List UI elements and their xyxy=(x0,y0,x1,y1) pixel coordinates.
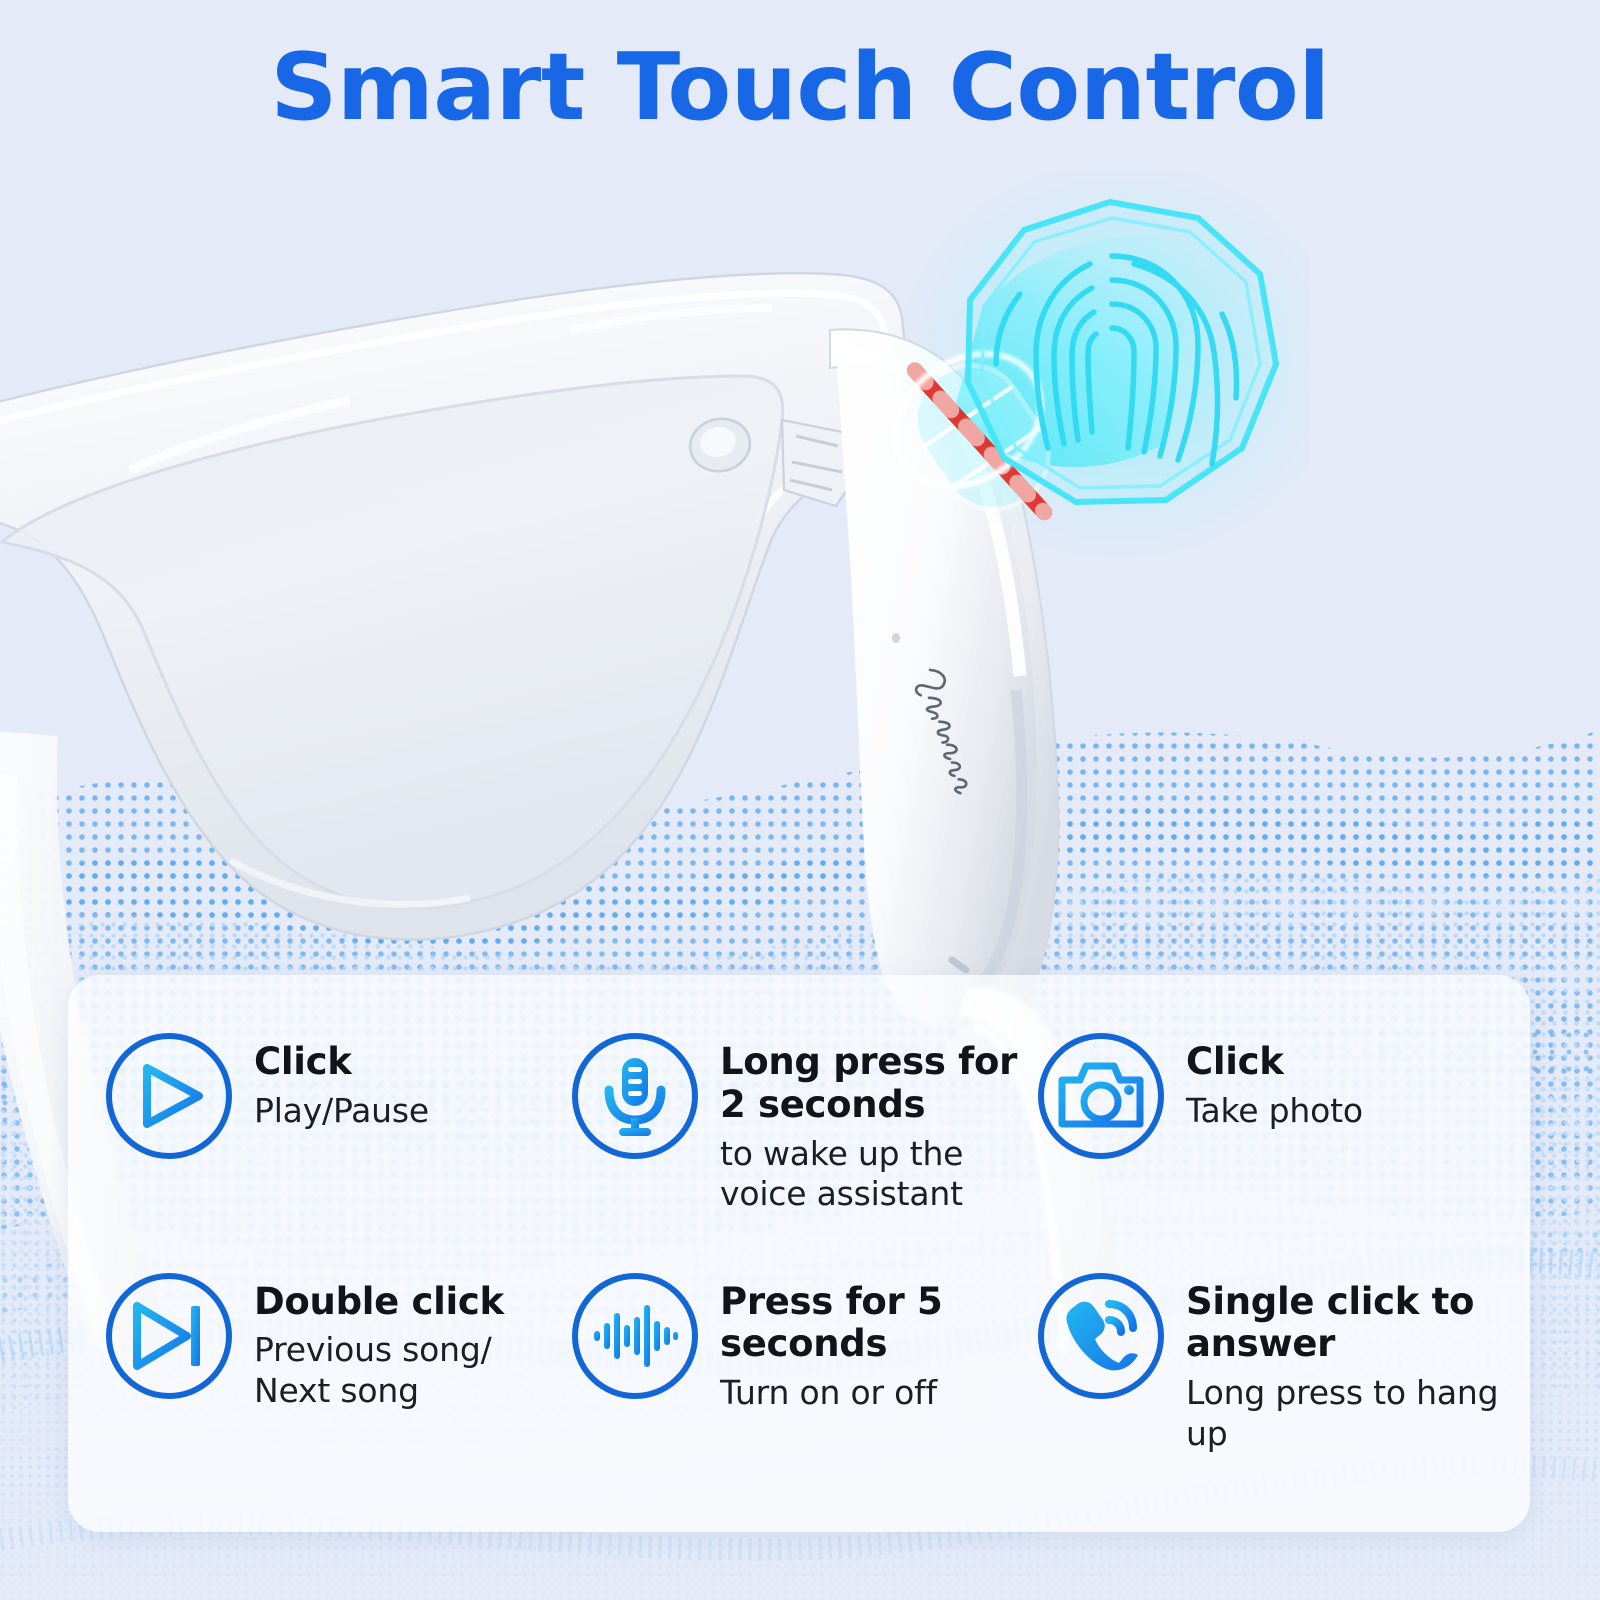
feature-title: Click xyxy=(1186,1041,1363,1084)
feature-subtitle: Long press to hang up xyxy=(1186,1373,1504,1454)
feature-item-power-toggle[interactable]: Press for 5 seconds Turn on or off xyxy=(572,1257,1038,1503)
feature-item-call-answer[interactable]: Single click to answer Long press to han… xyxy=(1038,1257,1504,1503)
feature-text: Press for 5 seconds Turn on or off xyxy=(720,1273,1038,1414)
next-track-icon xyxy=(106,1273,232,1399)
sound-wave-icon xyxy=(572,1273,698,1399)
feature-text: Single click to answer Long press to han… xyxy=(1186,1273,1504,1454)
feature-title: Single click to answer xyxy=(1186,1281,1504,1367)
eyeglass-frame xyxy=(0,273,912,939)
feature-text: Long press for 2 seconds to wake up the … xyxy=(720,1033,1038,1214)
feature-text: Click Take photo xyxy=(1186,1033,1363,1131)
feature-text: Double click Previous song/ Next song xyxy=(254,1273,572,1411)
phone-call-icon xyxy=(1038,1273,1164,1399)
feature-subtitle: to wake up the voice assistant xyxy=(720,1134,1038,1215)
camera-icon xyxy=(1038,1033,1164,1159)
touch-controls-panel: Click Play/Pause xyxy=(68,975,1530,1532)
page-title: Smart Touch Control xyxy=(0,34,1600,141)
infographic-page: Smart Touch Control xyxy=(0,0,1600,1600)
feature-subtitle: Take photo xyxy=(1186,1091,1363,1131)
feature-title: Press for 5 seconds xyxy=(720,1281,1038,1367)
feature-title: Long press for 2 seconds xyxy=(720,1041,1038,1127)
feature-grid: Click Play/Pause xyxy=(68,975,1530,1532)
play-icon xyxy=(106,1033,232,1159)
feature-title: Double click xyxy=(254,1281,572,1324)
feature-item-take-photo[interactable]: Click Take photo xyxy=(1038,1011,1504,1257)
feature-item-play[interactable]: Click Play/Pause xyxy=(106,1011,572,1257)
feature-subtitle: Turn on or off xyxy=(720,1373,1038,1413)
feature-title: Click xyxy=(254,1041,429,1084)
microphone-icon xyxy=(572,1033,698,1159)
feature-subtitle: Previous song/ Next song xyxy=(254,1330,572,1411)
feature-item-voice-assistant[interactable]: Long press for 2 seconds to wake up the … xyxy=(572,1011,1038,1257)
feature-subtitle: Play/Pause xyxy=(254,1091,429,1131)
feature-item-track-skip[interactable]: Double click Previous song/ Next song xyxy=(106,1257,572,1503)
feature-text: Click Play/Pause xyxy=(254,1033,429,1131)
